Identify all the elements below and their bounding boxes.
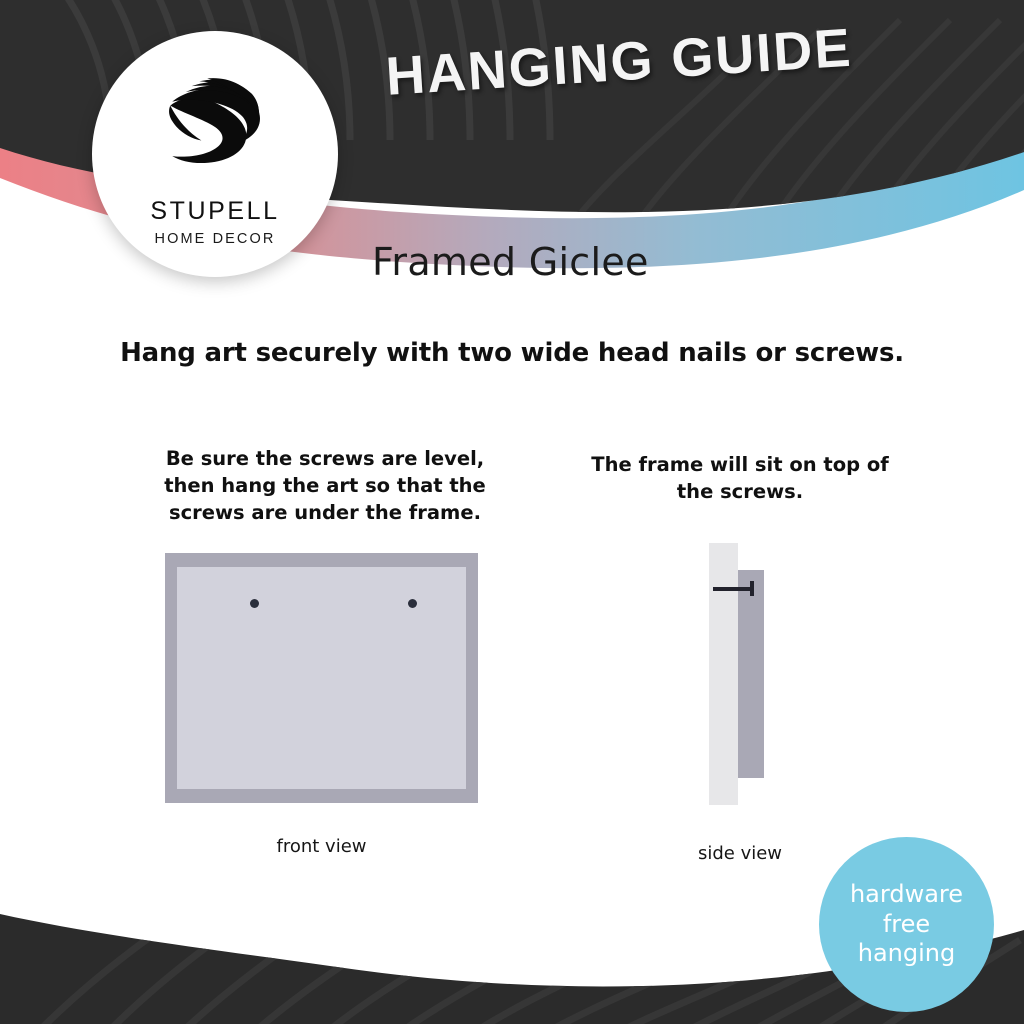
wall-surface-strip: [709, 543, 738, 805]
brand-name: STUPELL: [150, 197, 279, 226]
badge-line-1: hardware: [850, 880, 963, 910]
screw-dot-left: [250, 599, 259, 608]
stupell-swirl-s-logo-icon: [147, 57, 283, 193]
nail-head-icon: [750, 581, 754, 596]
hanging-guide-poster: STUPELL HOME DECOR HANGING GUIDE Framed …: [0, 0, 1024, 1024]
front-view-label: front view: [165, 836, 478, 857]
side-view-caption: The frame will sit on top of the screws.: [590, 452, 890, 506]
front-view-frame-diagram: [165, 553, 478, 803]
screw-dot-right: [408, 599, 417, 608]
page-title: HANGING GUIDE: [384, 17, 854, 108]
nail-shaft-icon: [713, 587, 753, 591]
frame-profile-strip: [738, 570, 764, 778]
badge-line-3: hanging: [858, 939, 955, 969]
side-view-frame-diagram: [700, 543, 780, 805]
front-view-caption: Be sure the screws are level, then hang …: [160, 446, 490, 527]
main-instruction-text: Hang art securely with two wide head nai…: [0, 338, 1024, 368]
brand-logo-badge: STUPELL HOME DECOR: [92, 31, 338, 277]
product-type-title: Framed Giclee: [372, 240, 649, 284]
frame-mat-area: [177, 567, 466, 789]
badge-line-2: free: [883, 910, 930, 940]
hardware-free-hanging-badge: hardware free hanging: [819, 837, 994, 1012]
brand-subtitle: HOME DECOR: [155, 231, 276, 247]
side-view-label: side view: [660, 843, 820, 864]
